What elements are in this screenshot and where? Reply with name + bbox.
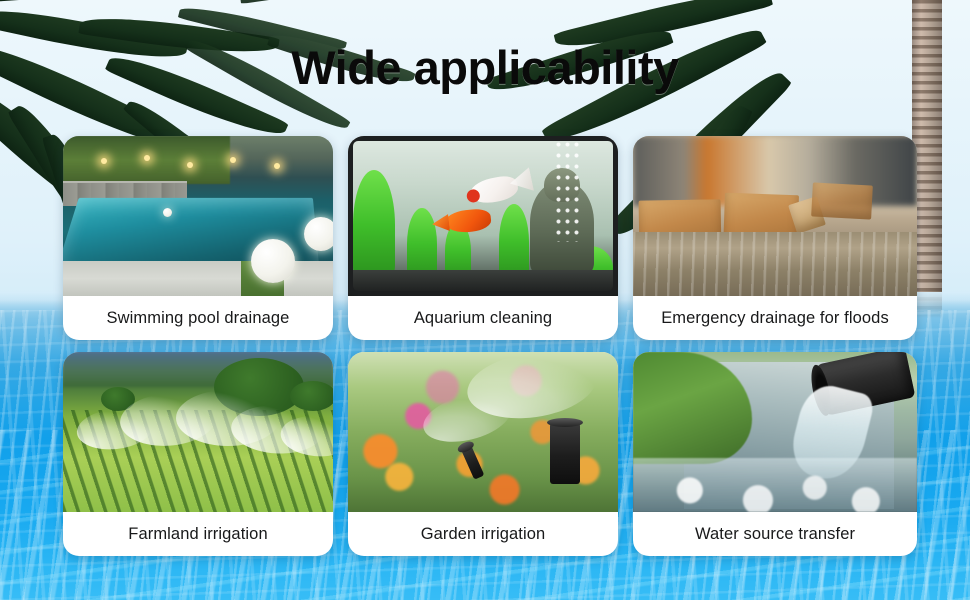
card-caption-aquarium: Aquarium cleaning [348, 296, 618, 340]
applications-grid: Swimming pool drainage [63, 136, 916, 556]
card-image-farmland [63, 352, 333, 512]
card-image-water-transfer [633, 352, 917, 512]
application-card-aquarium[interactable]: Aquarium cleaning [348, 136, 618, 340]
promo-banner: Wide applicability [0, 0, 970, 600]
card-caption-swimming-pool: Swimming pool drainage [63, 296, 333, 340]
card-caption-farmland: Farmland irrigation [63, 512, 333, 556]
card-caption-water-transfer: Water source transfer [633, 512, 917, 556]
application-card-flood[interactable]: Emergency drainage for floods [633, 136, 917, 340]
card-image-garden [348, 352, 618, 512]
card-image-swimming-pool [63, 136, 333, 296]
card-caption-garden: Garden irrigation [348, 512, 618, 556]
application-card-garden[interactable]: Garden irrigation [348, 352, 618, 556]
card-image-flood [633, 136, 917, 296]
water-froth [633, 458, 917, 512]
card-image-aquarium [348, 136, 618, 296]
card-caption-flood: Emergency drainage for floods [633, 296, 917, 340]
page-title: Wide applicability [0, 40, 970, 95]
application-card-swimming-pool[interactable]: Swimming pool drainage [63, 136, 333, 340]
application-card-farmland[interactable]: Farmland irrigation [63, 352, 333, 556]
application-card-water-transfer[interactable]: Water source transfer [633, 352, 917, 556]
sprinkler-head-large [550, 422, 580, 484]
